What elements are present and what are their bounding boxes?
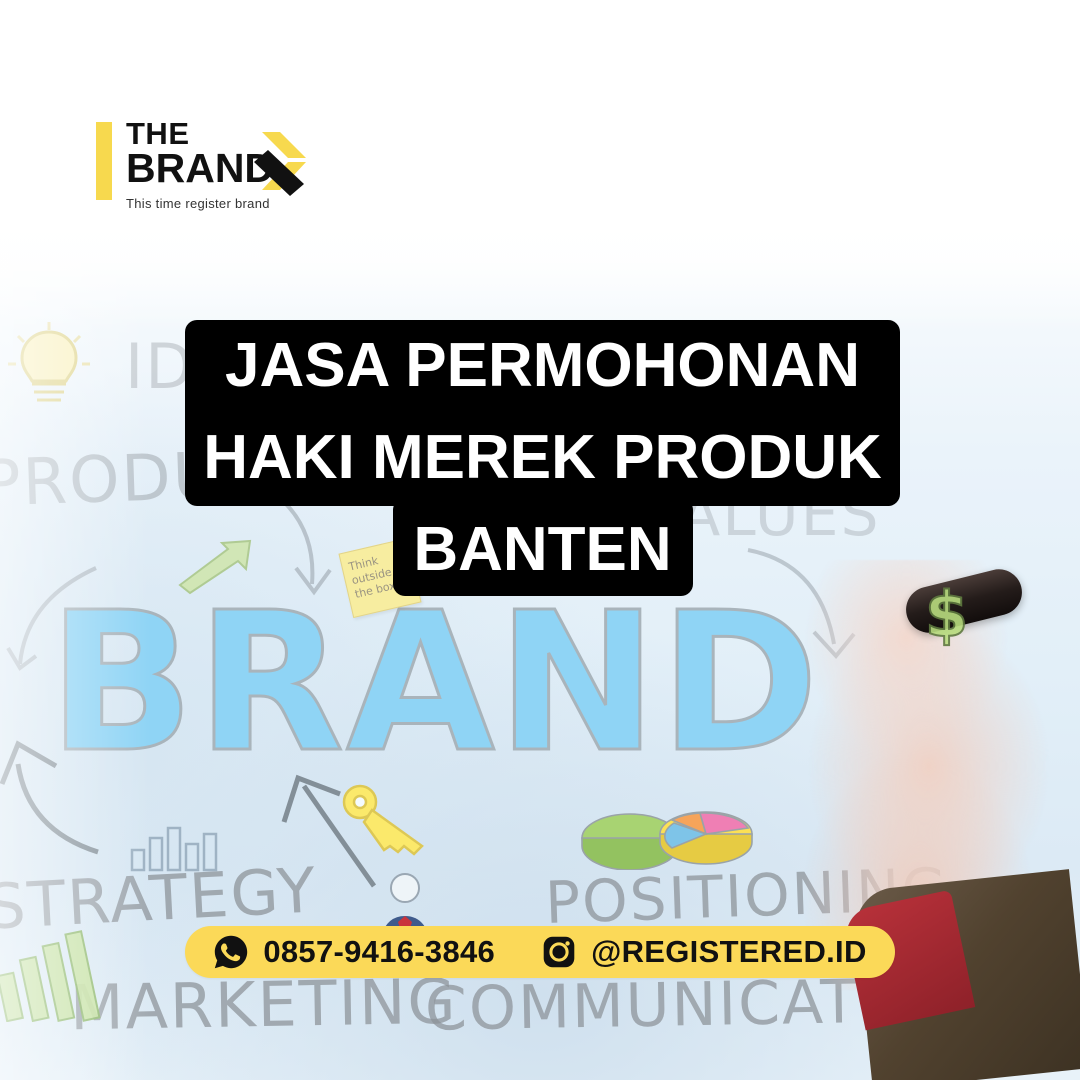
whatsapp-number: 0857-9416-3846 <box>263 934 495 970</box>
dollar-sign-icon: $ <box>925 578 968 651</box>
logo-accent-bar <box>96 122 112 200</box>
instagram-contact[interactable]: @REGISTERED.ID <box>541 934 867 970</box>
contact-bar: 0857-9416-3846 @REGISTERED.ID <box>185 926 895 978</box>
headline-line1: JASA PERMOHONAN <box>185 320 900 412</box>
pie-chart-icon <box>578 798 756 870</box>
brand-logo[interactable]: THE BRAND This time register brand <box>96 120 316 210</box>
instagram-handle: @REGISTERED.ID <box>591 934 867 970</box>
whatsapp-contact[interactable]: 0857-9416-3846 <box>213 934 495 970</box>
chevron-logo-mark-icon <box>246 128 314 204</box>
whatsapp-icon <box>213 934 249 970</box>
poster-canvas: IDEA PRODUCT VALUES STRATEGY MARKETING P… <box>0 0 1080 1080</box>
instagram-icon <box>541 934 577 970</box>
headline-line2: HAKI MEREK PRODUK <box>185 412 900 504</box>
headline-text: JASA PERMOHONAN HAKI MEREK PRODUK BANTEN <box>185 320 900 596</box>
headline-line3: BANTEN <box>185 504 900 596</box>
background-big-word: BRAND <box>48 588 821 780</box>
up-left-arrow-icon <box>248 760 388 890</box>
